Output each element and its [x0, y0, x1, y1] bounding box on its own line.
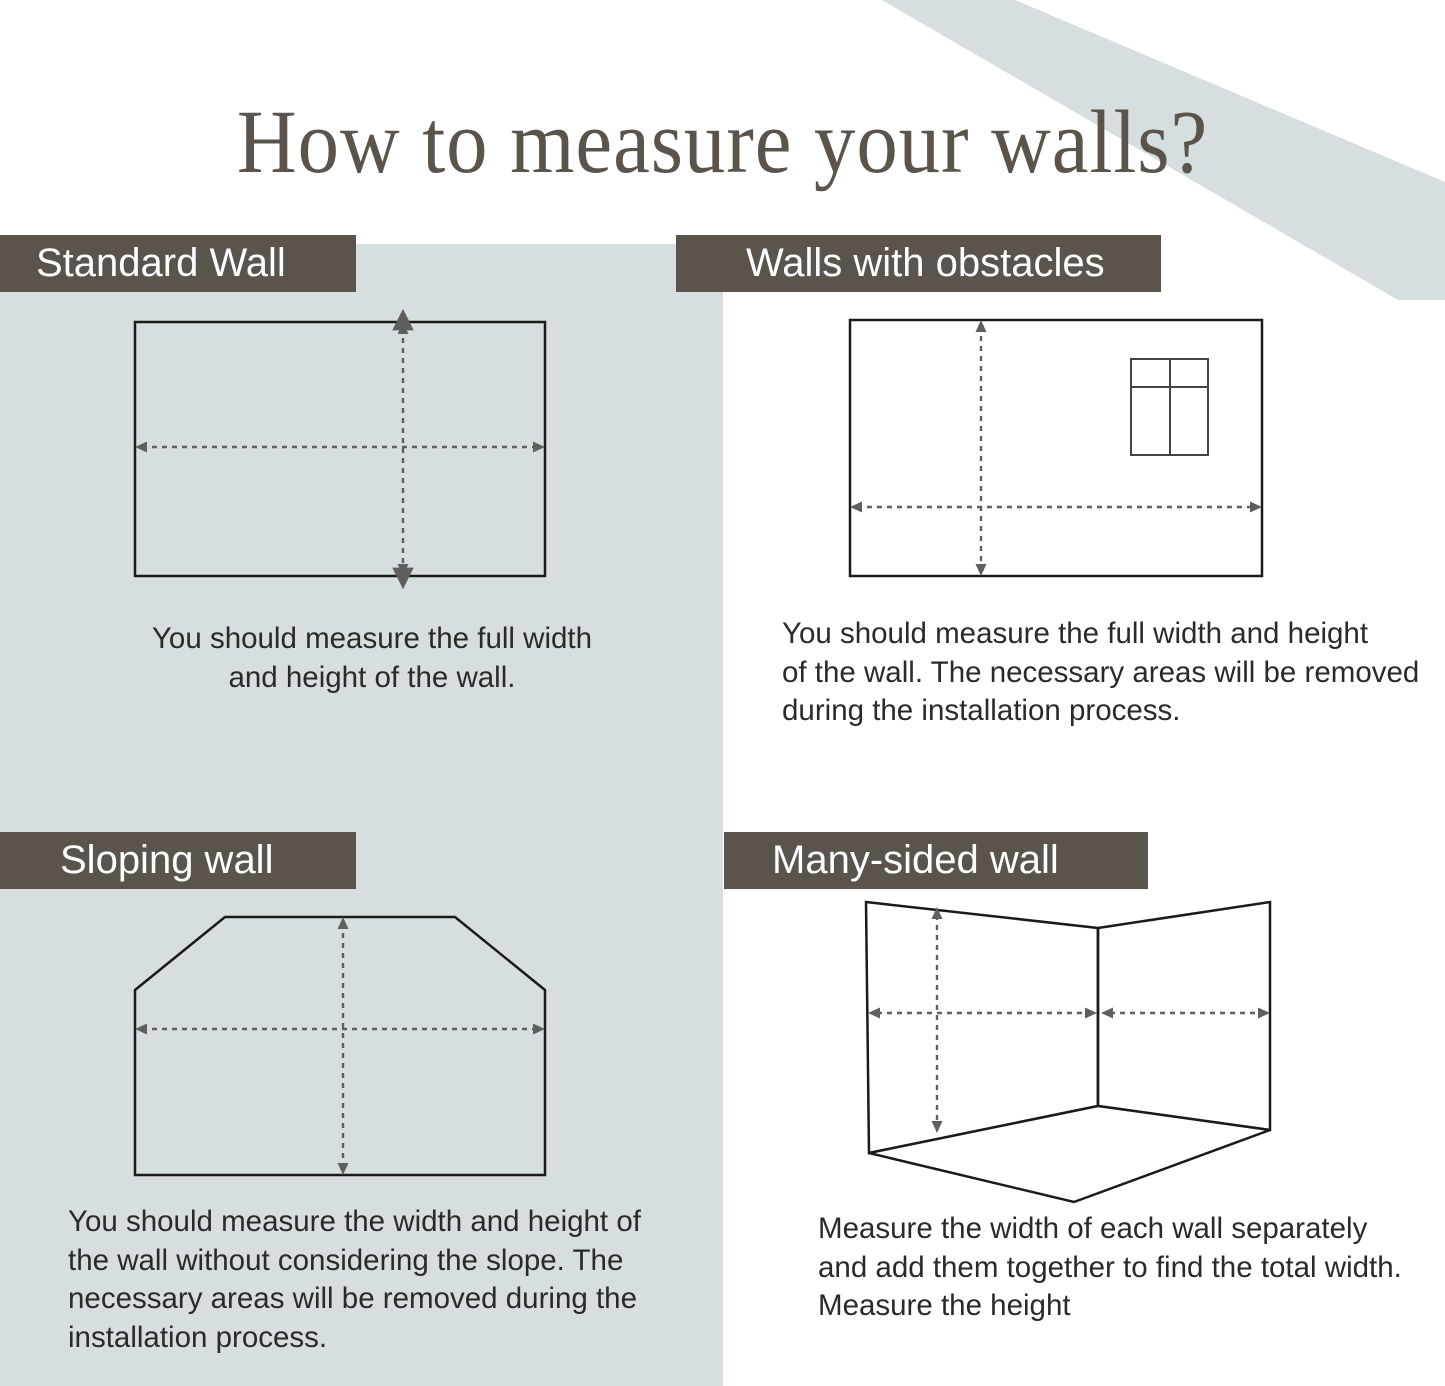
window-obstacle-icon	[1131, 359, 1208, 455]
caption-standard-wall: You should measure the full width and he…	[112, 620, 632, 697]
page-title: How to measure your walls?	[58, 94, 1387, 191]
section-heading-walls-with-obstacles: Walls with obstacles	[676, 235, 1161, 292]
caption-sloping-wall: You should measure the width and height …	[68, 1203, 668, 1358]
width-arrow-left	[135, 442, 147, 453]
caption-walls-with-obstacles: You should measure the full width and he…	[782, 615, 1422, 731]
sloped-wall-outline	[135, 917, 545, 1175]
height-arrow-down	[338, 1163, 349, 1175]
wall-outline-rect	[135, 322, 545, 576]
section-heading-many-sided-wall: Many-sided wall	[724, 832, 1148, 889]
width-arrow-right	[533, 442, 545, 453]
height-arrow-up	[338, 917, 349, 929]
section-heading-sloping-wall: Sloping wall	[0, 832, 356, 889]
caption-many-sided-wall: Measure the width of each wall separatel…	[818, 1210, 1428, 1326]
section-heading-standard-wall: Standard Wall	[0, 235, 356, 292]
height-arrow-up	[398, 322, 409, 334]
diagram-many-sided-wall	[840, 885, 1300, 1215]
height-arrow-down	[398, 564, 409, 576]
infographic-page: How to measure your walls? Standard Wall	[0, 0, 1445, 1386]
diagram-sloping-wall	[110, 895, 580, 1195]
right-wall-face	[1098, 902, 1270, 1130]
width-arrow-right	[533, 1024, 545, 1035]
diagram-standard-wall	[110, 300, 580, 600]
width-arrow-left	[135, 1024, 147, 1035]
diagram-walls-with-obstacles	[820, 300, 1300, 600]
